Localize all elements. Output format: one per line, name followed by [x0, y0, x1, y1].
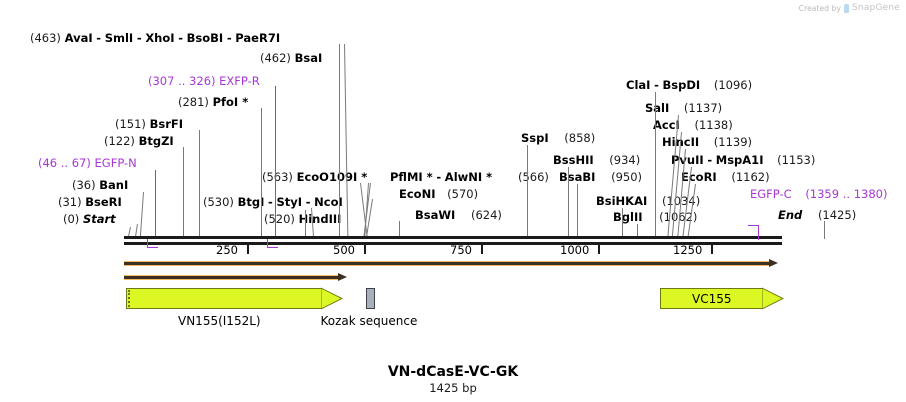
site-label-pflmi-row[interactable]: PflMI * - AlwNI *: [390, 172, 492, 184]
snapgene-linear-map: Created by SnapGene (463) AvaI - SmlI - …: [0, 0, 906, 402]
name-separator: -: [654, 78, 659, 92]
site-position: (934): [609, 153, 640, 167]
feature-label-egfp-c[interactable]: EGFP-C (1359 .. 1380): [750, 189, 887, 201]
site-position: (36): [72, 178, 96, 192]
feature-arrow-vc155[interactable]: VC155: [660, 288, 783, 309]
ruler-tick-mark: [598, 243, 600, 254]
site-label-sali[interactable]: SalI (1137): [645, 103, 722, 115]
site-position: (463): [30, 31, 61, 45]
leader-line-hindiii: [305, 210, 306, 239]
snapgene-logo-icon: [844, 4, 849, 13]
leader-line-clai-row: [655, 92, 656, 239]
site-label-bsihkai[interactable]: BsiHKAI (1034): [596, 196, 700, 208]
sequence-backbone-top: [124, 236, 782, 239]
site-name: EcoO109I *: [297, 170, 368, 184]
site-position: (1137): [684, 101, 722, 115]
site-name: BspDI: [663, 78, 701, 92]
site-name: BsiHKAI: [596, 194, 647, 208]
site-name: Start: [83, 212, 116, 226]
site-name: End: [778, 208, 802, 222]
name-separator: -: [436, 170, 441, 184]
site-label-econi[interactable]: EcoNI (570): [399, 189, 478, 201]
leader-line-bsai: [339, 44, 340, 239]
site-position: (1425): [818, 208, 856, 222]
site-position: (624): [471, 208, 502, 222]
site-position: (122): [104, 134, 135, 148]
site-position: (281): [178, 95, 209, 109]
leader-line-avai-row: [344, 44, 348, 239]
feature-name: EGFP-N: [95, 156, 137, 170]
site-position: (151): [115, 117, 146, 131]
site-label-bsrfi[interactable]: (151) BsrFI: [115, 119, 183, 131]
site-position-pflmi-row: (566): [518, 172, 549, 184]
snapgene-watermark: Created by SnapGene: [799, 3, 900, 13]
feature-label-vn155: VN155(I152L): [178, 314, 261, 328]
leader-line-bsabi: [577, 184, 578, 239]
ruler-tick-mark: [711, 243, 713, 254]
site-label-acci[interactable]: AccI (1138): [653, 120, 733, 132]
feature-box-kozak[interactable]: [366, 288, 375, 309]
site-position: (530): [203, 195, 234, 209]
feature-label-egfp-n[interactable]: (46 .. 67) EGFP-N: [38, 158, 137, 170]
site-name: MspA1I: [716, 153, 764, 167]
feature-bracket-exfp-r[interactable]: [267, 239, 278, 248]
ruler-tick-mark: [481, 243, 483, 254]
leader-line-bani: [140, 192, 144, 239]
name-separator: -: [227, 31, 232, 45]
site-label-pfoi[interactable]: (281) PfoI *: [178, 97, 248, 109]
site-label-avai-row[interactable]: (463) AvaI - SmlI - XhoI - BsoBI - PaeR7…: [30, 33, 280, 45]
site-name: BsaI: [295, 51, 323, 65]
site-name: AvaI: [65, 31, 93, 45]
site-position: (563): [262, 170, 293, 184]
site-name: BsoBI: [187, 31, 224, 45]
leader-line-egfp-n: [155, 170, 156, 239]
site-position: (1139): [714, 135, 752, 149]
site-position: (858): [564, 131, 595, 145]
arrow-head-right-icon: [762, 284, 784, 313]
site-label-end[interactable]: End (1425): [778, 210, 856, 222]
site-position: (1096): [714, 78, 752, 92]
arrow-head-right-icon: [769, 259, 778, 267]
site-position: (462): [260, 51, 291, 65]
leader-line-bsshii: [568, 167, 569, 239]
feature-arrow-body: [126, 288, 322, 309]
site-name: PflMI *: [390, 170, 433, 184]
watermark-prefix: Created by: [799, 4, 841, 13]
ruler-tick-mark: [247, 243, 249, 254]
arrow-shaft: [124, 261, 769, 266]
site-position: (570): [447, 187, 478, 201]
feature-label-exfp-r[interactable]: (307 .. 326) EXFP-R: [148, 76, 260, 88]
leader-line-pfoi: [261, 108, 262, 239]
site-name: BglII: [613, 210, 643, 224]
site-label-bsai[interactable]: (462) BsaI: [260, 53, 322, 65]
site-name: StyI: [276, 195, 302, 209]
feature-label-vc155: VC155: [692, 292, 732, 306]
site-name: AlwNI *: [445, 170, 492, 184]
site-name: BsaBI: [559, 170, 595, 184]
site-label-btgzi[interactable]: (122) BtgZI: [104, 136, 174, 148]
feature-range: (1359 .. 1380): [805, 187, 887, 201]
ruler-tick-label: 1250: [673, 243, 702, 257]
site-position: (520): [264, 212, 295, 226]
site-position: (566): [518, 170, 549, 184]
site-position: (1138): [694, 118, 732, 132]
leader-line-sspi: [527, 145, 528, 239]
site-label-start[interactable]: (0) Start: [63, 214, 116, 226]
translation-arrow-short[interactable]: [124, 274, 364, 281]
site-name: BanI: [99, 178, 128, 192]
site-position: (1162): [731, 170, 769, 184]
site-name: XhoI: [145, 31, 174, 45]
name-separator: -: [137, 31, 142, 45]
feature-range: (307 .. 326): [148, 74, 216, 88]
site-position: (31): [58, 195, 82, 209]
feature-bracket-egfp-c[interactable]: [748, 225, 759, 240]
feature-truncation-marker: [128, 290, 130, 307]
leader-line-btgzi: [183, 147, 184, 239]
feature-range: (46 .. 67): [38, 156, 91, 170]
site-name: PaeR7I: [235, 31, 280, 45]
name-separator: -: [178, 31, 183, 45]
watermark-brand: SnapGene: [852, 3, 900, 13]
site-label-ecori[interactable]: EcoRI (1162): [681, 172, 770, 184]
site-name: SspI: [521, 131, 549, 145]
ruler-tick-mark: [364, 243, 366, 254]
arrow-head-right-icon: [338, 273, 347, 281]
feature-label-kozak: Kozak sequence: [320, 314, 417, 328]
site-name: BtgZI: [139, 134, 174, 148]
name-separator: -: [268, 195, 273, 209]
leader-line-end: [824, 221, 825, 239]
site-name: BsrFI: [150, 117, 183, 131]
site-name: ClaI: [626, 78, 650, 92]
site-name: BsaWI: [415, 208, 455, 222]
site-position: (1153): [777, 153, 815, 167]
arrow-head-right-icon: [321, 284, 343, 313]
name-separator: -: [96, 31, 101, 45]
leader-line-exfp-r: [275, 86, 276, 239]
name-separator: -: [306, 195, 311, 209]
site-label-ecoo109i[interactable]: (563) EcoO109I *: [262, 172, 367, 184]
site-label-clai-row[interactable]: ClaI - BspDI (1096): [626, 80, 752, 92]
feature-arrow-vn155[interactable]: [126, 288, 342, 309]
site-name: BseRI: [85, 195, 122, 209]
arrow-shaft: [124, 275, 338, 280]
site-label-pvuii-row[interactable]: PvuII - MspA1I (1153): [671, 155, 815, 167]
site-name: PfoI *: [213, 95, 249, 109]
feature-name: EGFP-C: [750, 187, 792, 201]
site-name: SmlI: [105, 31, 134, 45]
site-label-bani[interactable]: (36) BanI: [72, 180, 128, 192]
site-label-btgi-row[interactable]: (530) BtgI - StyI - NcoI: [203, 197, 343, 209]
ruler-tick-label: 750: [450, 243, 472, 257]
site-position: (0): [63, 212, 79, 226]
ruler-tick-label: 500: [333, 243, 355, 257]
site-name: PvuII: [671, 153, 704, 167]
ruler-tick-label: 1000: [560, 243, 589, 257]
translation-arrow-long[interactable]: [124, 260, 784, 267]
site-position: (950): [611, 170, 642, 184]
site-label-bsshii[interactable]: BssHII (934): [553, 155, 640, 167]
ruler-tick-label: 250: [216, 243, 238, 257]
leader-line-bsihkai: [622, 208, 623, 239]
site-name: SalI: [645, 101, 669, 115]
site-name: EcoNI: [399, 187, 435, 201]
site-label-bsawi[interactable]: BsaWI (624): [415, 210, 502, 222]
feature-name: EXFP-R: [219, 74, 260, 88]
leader-line-bsrfi: [199, 130, 200, 239]
name-separator: -: [707, 153, 712, 167]
construct-length: 1425 bp: [0, 381, 906, 395]
site-label-bsabi[interactable]: BsaBI (950): [559, 172, 642, 184]
site-name: EcoRI: [681, 170, 717, 184]
site-label-sspi[interactable]: SspI (858): [521, 133, 595, 145]
site-label-bseri[interactable]: (31) BseRI: [58, 197, 122, 209]
feature-bracket-egfp-n[interactable]: [147, 239, 158, 248]
site-name: BssHII: [553, 153, 594, 167]
construct-title: VN-dCasE-VC-GK: [0, 364, 906, 380]
